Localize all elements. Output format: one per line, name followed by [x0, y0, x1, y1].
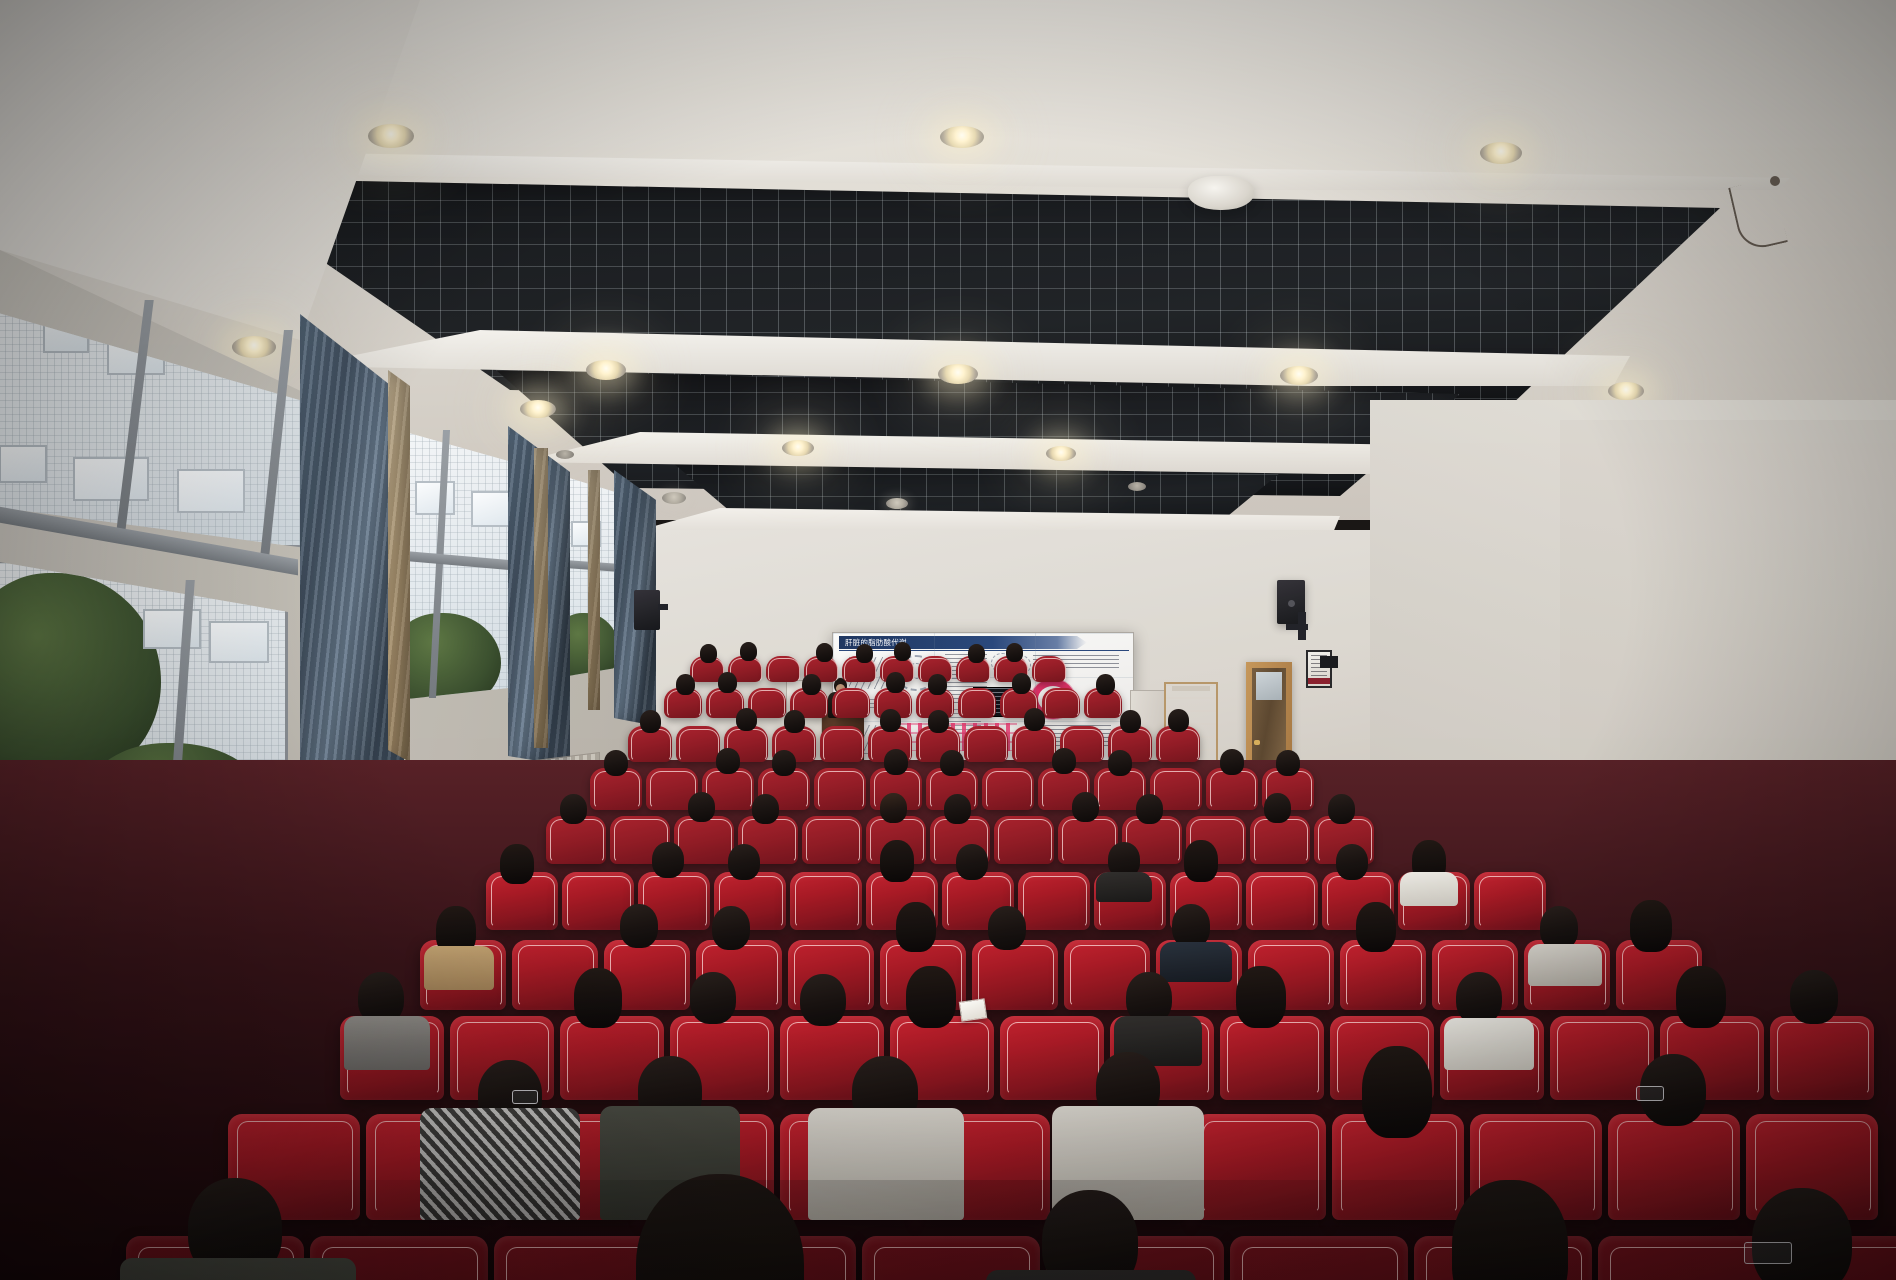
- outside-window: [415, 481, 455, 515]
- handout-paper: [959, 998, 988, 1021]
- person-head: [800, 974, 846, 1026]
- curtain-accent-far: [588, 470, 600, 710]
- person-hair: [1236, 966, 1286, 1028]
- eyeglasses: [512, 1090, 538, 1104]
- person-head: [736, 708, 757, 731]
- person-head: [772, 750, 796, 776]
- lecture-hall-photo: 肝脏的脂肪酸代谢: [0, 0, 1896, 1280]
- person-hair: [500, 844, 534, 884]
- person-head: [690, 972, 736, 1024]
- person-head: [676, 674, 695, 695]
- seat[interactable]: [1012, 726, 1056, 762]
- seat[interactable]: [802, 816, 862, 864]
- seat[interactable]: [1246, 872, 1318, 930]
- wire-anchor: [1770, 176, 1780, 186]
- person-head: [940, 750, 964, 776]
- person-hair: [906, 966, 956, 1028]
- wall-speaker-cone: [1288, 600, 1295, 607]
- seat[interactable]: [1000, 1016, 1104, 1100]
- person-head: [1168, 709, 1189, 732]
- person-head: [700, 644, 717, 663]
- person-head: [752, 794, 779, 824]
- seat[interactable]: [1032, 656, 1066, 682]
- person-head: [652, 842, 684, 878]
- wall-speaker-bracket: [1286, 624, 1308, 630]
- curtain-accent-mid: [534, 448, 548, 748]
- outside-window: [73, 457, 149, 501]
- person-head: [944, 794, 971, 824]
- projector-mount: [1188, 176, 1254, 210]
- person-hair: [880, 840, 914, 882]
- seat[interactable]: [820, 726, 864, 762]
- control-panel[interactable]: [1320, 656, 1338, 668]
- person-head: [1108, 750, 1132, 776]
- downlight: [1128, 482, 1146, 491]
- downlight: [1480, 142, 1522, 164]
- slide-title: 肝脏的脂肪酸代谢: [839, 636, 1087, 649]
- outside-window: [209, 621, 269, 663]
- seat[interactable]: [972, 940, 1058, 1010]
- person-head: [740, 642, 757, 661]
- person-head: [1276, 750, 1300, 776]
- person-head: [716, 748, 740, 774]
- person-head: [880, 709, 901, 732]
- person-head: [1096, 674, 1115, 695]
- person-head: [1012, 673, 1031, 694]
- person-head: [894, 642, 911, 661]
- person-head: [688, 792, 715, 822]
- downlight: [940, 126, 984, 148]
- person-head: [816, 643, 833, 662]
- person-head: [620, 904, 658, 948]
- person-head: [802, 674, 821, 695]
- seat[interactable]: [1770, 1016, 1874, 1100]
- person-head: [1024, 708, 1045, 731]
- person-hair: [1184, 840, 1218, 882]
- person-head: [1264, 793, 1291, 823]
- downlight: [886, 498, 908, 509]
- person-body: [424, 946, 494, 990]
- curtain-accent-near: [388, 370, 410, 762]
- seat[interactable]: [814, 768, 866, 810]
- seat[interactable]: [832, 688, 870, 718]
- person-hair: [1362, 1046, 1432, 1138]
- entry-door-window: [1256, 672, 1282, 700]
- person-head: [640, 710, 661, 733]
- person-head: [928, 674, 947, 695]
- downlight: [782, 440, 814, 456]
- person-body: [1400, 872, 1458, 906]
- person-head: [1220, 749, 1244, 775]
- person-head: [1006, 643, 1023, 662]
- seat[interactable]: [790, 872, 862, 930]
- downlight: [368, 124, 414, 148]
- seat[interactable]: [994, 816, 1054, 864]
- person-hair: [1356, 902, 1396, 952]
- person-head: [718, 672, 737, 693]
- person-head: [1456, 972, 1502, 1024]
- seat[interactable]: [766, 656, 800, 682]
- person-head: [604, 750, 628, 776]
- seat[interactable]: [1474, 872, 1546, 930]
- person-body: [1528, 944, 1602, 986]
- person-head: [880, 793, 907, 823]
- person-head: [928, 710, 949, 733]
- seat[interactable]: [1018, 872, 1090, 930]
- downlight: [938, 364, 978, 384]
- person-head: [712, 906, 750, 950]
- person-hair: [574, 968, 622, 1028]
- theater-seating: [0, 760, 1896, 1280]
- wall-speaker-left-bracket: [658, 604, 668, 610]
- wall-poster-footer: [1308, 678, 1330, 684]
- person-hair: [896, 902, 936, 952]
- person-hair: [1676, 966, 1726, 1028]
- seat[interactable]: [676, 726, 720, 762]
- person-head: [1328, 794, 1355, 824]
- person-body: [1160, 942, 1232, 982]
- outside-window: [0, 445, 47, 483]
- outside-window: [177, 469, 245, 513]
- person-body: [1444, 1018, 1534, 1070]
- person-head: [1072, 792, 1099, 822]
- person-hair: [1630, 900, 1672, 952]
- person-head: [988, 906, 1026, 950]
- seat[interactable]: [958, 688, 996, 718]
- entry-door-handle[interactable]: [1254, 740, 1260, 745]
- downlight: [662, 492, 686, 504]
- downlight: [1608, 382, 1644, 400]
- person-head: [1336, 844, 1368, 880]
- person-head: [1790, 970, 1838, 1024]
- person-head: [886, 672, 905, 693]
- person-head: [560, 794, 587, 824]
- downlight: [520, 400, 556, 418]
- person-head: [1136, 794, 1163, 824]
- person-head: [856, 644, 873, 663]
- seat[interactable]: [1042, 688, 1080, 718]
- person-head: [956, 844, 988, 880]
- person-head: [968, 644, 985, 663]
- person-head: [884, 749, 908, 775]
- downlight: [556, 450, 574, 459]
- downlight: [586, 360, 626, 380]
- seat[interactable]: [982, 768, 1034, 810]
- person-head: [1120, 710, 1141, 733]
- seat[interactable]: [1250, 816, 1310, 864]
- seat[interactable]: [964, 726, 1008, 762]
- person-head: [728, 844, 760, 880]
- wall-speaker-left: [634, 590, 660, 630]
- equipment-rack-label: [1172, 686, 1210, 691]
- person-head: [784, 710, 805, 733]
- downlight: [1280, 366, 1318, 385]
- person-body: [344, 1016, 430, 1070]
- seat[interactable]: [1220, 1016, 1324, 1100]
- aisle-shadow: [0, 1180, 1896, 1280]
- downlight: [1046, 446, 1076, 461]
- downlight: [232, 336, 276, 358]
- person-head: [1052, 748, 1076, 774]
- person-body: [1096, 872, 1152, 902]
- eyeglasses: [1636, 1086, 1664, 1101]
